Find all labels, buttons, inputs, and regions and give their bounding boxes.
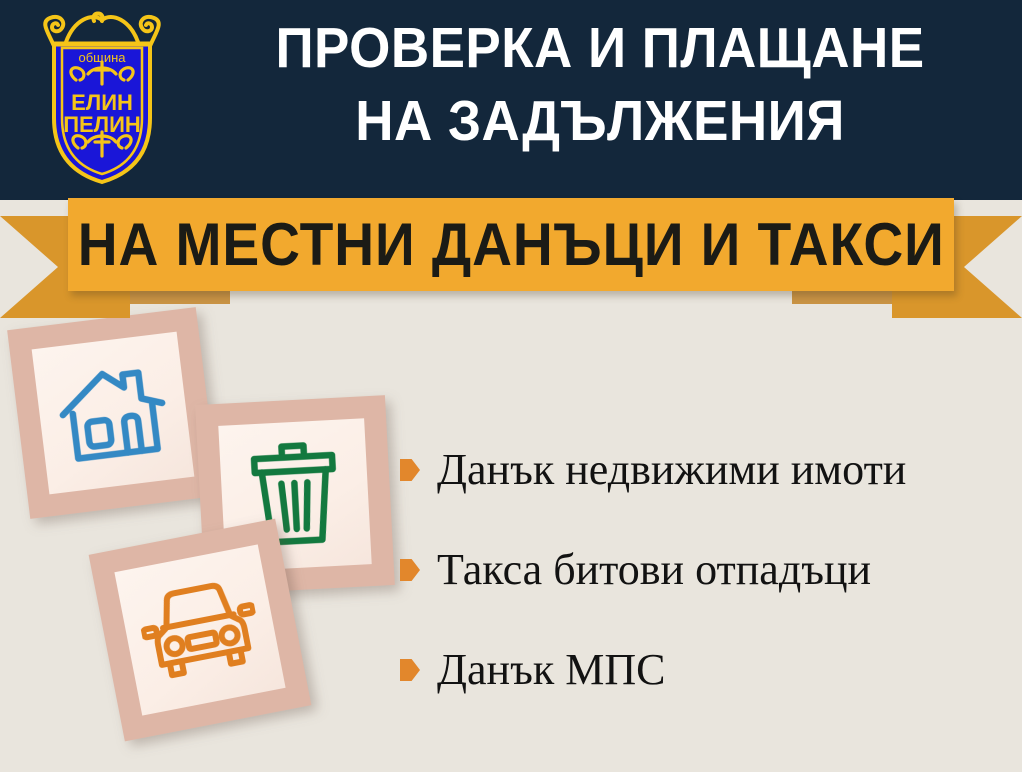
ribbon-subtitle: НА МЕСТНИ ДАНЪЦИ И ТАКСИ: [77, 215, 944, 275]
list-item-label: Данък недвижими имоти: [437, 446, 906, 494]
list-item-label: Такса битови отпадъци: [437, 546, 871, 594]
list-item: Данък недвижими имоти: [400, 420, 1010, 520]
poster-root: община ЕЛИН ПЕЛИН ПРОВЕРКА И ПЛАЩАНЕ НА …: [0, 0, 1022, 772]
stamp-icons-group: [0, 300, 420, 770]
header-bar: община ЕЛИН ПЕЛИН ПРОВЕРКА И ПЛАЩАНЕ НА …: [0, 0, 1022, 200]
page-title: ПРОВЕРКА И ПЛАЩАНЕ НА ЗАДЪЛЖЕНИЯ: [219, 12, 982, 158]
list-item: Такса битови отпадъци: [400, 520, 1010, 620]
page-title-line-1: ПРОВЕРКА И ПЛАЩАНЕ: [275, 16, 924, 80]
arrow-bullet-icon: [400, 659, 420, 681]
stamp-card-house: [7, 307, 219, 519]
list-item: Данък МПС: [400, 620, 1010, 720]
crest-top-word: община: [78, 50, 126, 65]
list-item-label: Данък МПС: [437, 646, 665, 694]
crest-name-line2: ПЕЛИН: [63, 112, 141, 137]
car-front-icon: [134, 573, 266, 687]
page-title-line-2: НА ЗАДЪЛЖЕНИЯ: [219, 85, 982, 158]
municipality-crest: община ЕЛИН ПЕЛИН: [26, 8, 178, 188]
arrow-bullet-icon: [400, 559, 420, 581]
tax-type-list: Данък недвижими имоти Такса битови отпад…: [400, 420, 1010, 720]
stamp-card-car: [89, 519, 312, 742]
house-icon: [51, 356, 175, 471]
stamp-face: [114, 544, 285, 715]
subtitle-ribbon: НА МЕСТНИ ДАНЪЦИ И ТАКСИ: [0, 198, 1022, 318]
stamp-face: [32, 332, 195, 495]
arrow-bullet-icon: [400, 459, 420, 481]
crest-icon: община ЕЛИН ПЕЛИН: [26, 8, 178, 188]
ribbon-band: НА МЕСТНИ ДАНЪЦИ И ТАКСИ: [68, 198, 954, 291]
